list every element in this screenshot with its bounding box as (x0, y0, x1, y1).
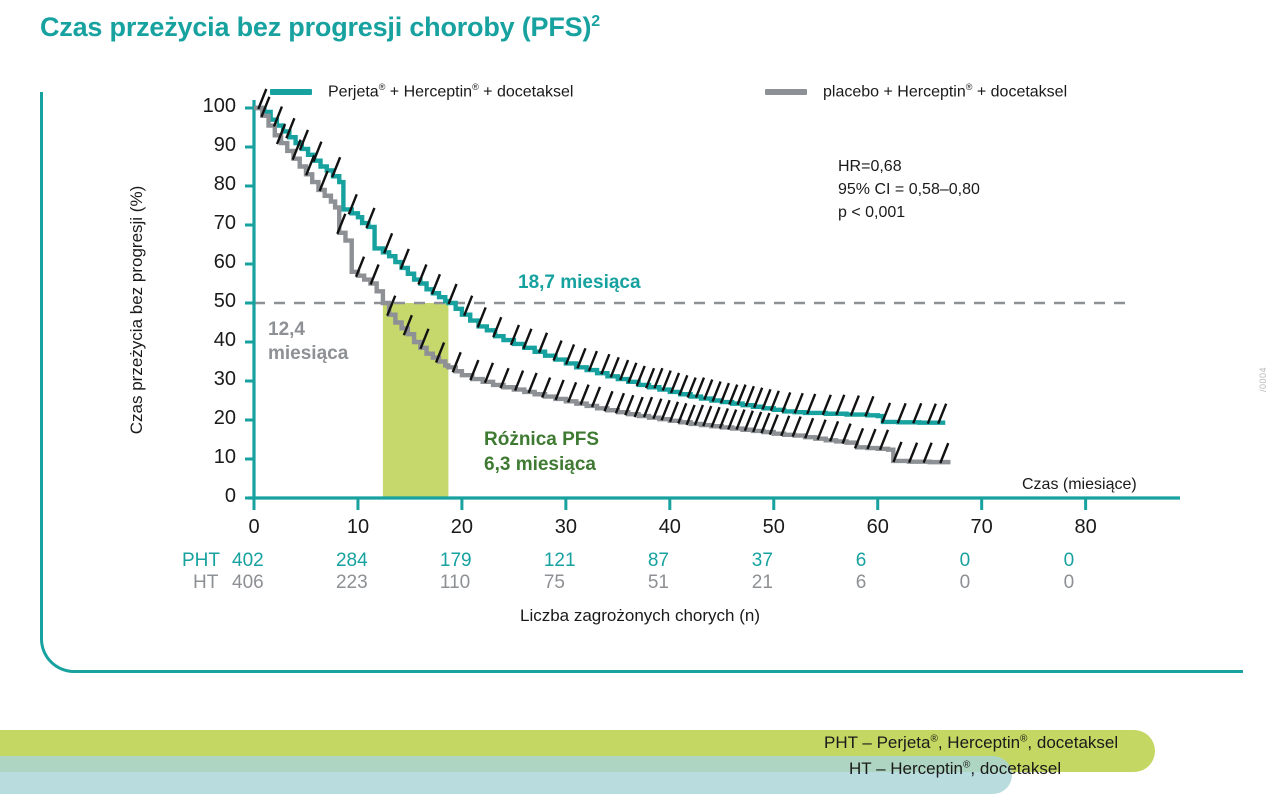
y-tick-label: 10 (190, 446, 236, 469)
x-tick-label: 80 (1056, 516, 1116, 539)
x-tick-label: 40 (640, 516, 700, 539)
x-tick-label: 60 (848, 516, 908, 539)
risk-cell: 402 (232, 550, 302, 572)
y-tick-label: 90 (190, 134, 236, 157)
risk-cell: 110 (440, 572, 510, 594)
risk-cell: 6 (856, 550, 926, 572)
stat-hr: HR=0,68 (838, 155, 980, 178)
risk-cell: 179 (440, 550, 510, 572)
x-tick-label: 50 (744, 516, 804, 539)
risk-cell: 0 (960, 550, 1030, 572)
x-tick-label: 30 (536, 516, 596, 539)
risk-cell: 406 (232, 572, 302, 594)
annotation-pht-median: 18,7 miesiąca (518, 272, 641, 294)
risk-row-label-pht: PHT (182, 550, 220, 572)
y-tick-label: 30 (190, 368, 236, 391)
slide: Czas przeżycia bez progresji choroby (PF… (0, 0, 1280, 808)
footer-note-line-ht: HT – Herceptin®, docetaksel (824, 756, 1118, 782)
y-tick-label: 70 (190, 212, 236, 235)
x-axis-caption: Czas (miesiące) (1022, 476, 1137, 494)
y-tick-label: 40 (190, 329, 236, 352)
risk-cell: 75 (544, 572, 614, 594)
y-tick-label: 60 (190, 251, 236, 274)
y-tick-label: 0 (190, 485, 236, 508)
x-tick-label: 20 (432, 516, 492, 539)
risk-cell: 223 (336, 572, 406, 594)
km-survival-chart: Czas przeżycia bez progresji (%) Czas (m… (0, 0, 1280, 808)
statistics-box: HR=0,68 95% CI = 0,58–0,80 p < 0,001 (838, 155, 980, 225)
y-axis-title: Czas przeżycia bez progresji (%) (127, 160, 147, 460)
risk-cell: 284 (336, 550, 406, 572)
censor-marks-pht (258, 89, 946, 424)
y-tick-label: 80 (190, 173, 236, 196)
footer-note-line-pht: PHT – Perjeta®, Herceptin®, docetaksel (824, 730, 1118, 756)
y-tick-label: 50 (190, 290, 236, 313)
annotation-pfs-difference: Różnica PFS 6,3 miesiąca (484, 428, 599, 477)
plot-area-svg (0, 0, 1280, 808)
risk-table-caption: Liczba zagrożonych chorych (n) (0, 606, 1280, 626)
footer-abbreviation-note: PHT – Perjeta®, Herceptin®, docetaksel H… (824, 730, 1118, 781)
x-tick-label: 0 (224, 516, 284, 539)
risk-cell: 51 (648, 572, 718, 594)
risk-cell: 6 (856, 572, 926, 594)
risk-cell: 21 (752, 572, 822, 594)
side-document-code: /0004 (1258, 367, 1268, 392)
risk-cell: 37 (752, 550, 822, 572)
risk-cell: 87 (648, 550, 718, 572)
risk-cell: 0 (1064, 550, 1134, 572)
risk-cell: 0 (960, 572, 1030, 594)
y-tick-label: 100 (190, 95, 236, 118)
x-tick-label: 10 (328, 516, 388, 539)
risk-row-label-ht: HT (193, 572, 218, 594)
x-tick-label: 70 (952, 516, 1012, 539)
stat-ci: 95% CI = 0,58–0,80 (838, 178, 980, 201)
annotation-ht-median: 12,4 miesiąca (268, 318, 348, 366)
numbers-at-risk-table: PHT4022841791218737600HT4062231107551216… (0, 550, 1280, 600)
risk-cell: 121 (544, 550, 614, 572)
y-tick-label: 20 (190, 407, 236, 430)
stat-p: p < 0,001 (838, 201, 980, 224)
risk-cell: 0 (1064, 572, 1134, 594)
